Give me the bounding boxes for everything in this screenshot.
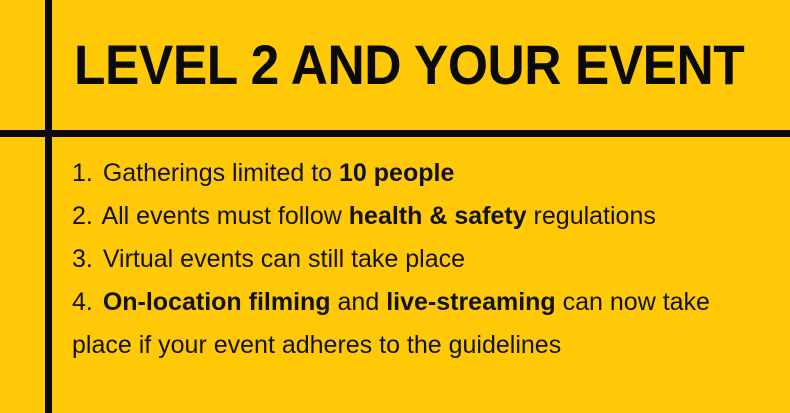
list-item-marker: 3. xyxy=(72,245,93,273)
list-item-emphasis: health & safety xyxy=(349,202,527,230)
list-item: 3. Virtual events can still take place xyxy=(72,238,772,281)
list-item-text: Virtual events can still take place xyxy=(103,245,465,273)
list-item: 1. Gatherings limited to 10 people xyxy=(72,152,772,195)
poster-header: LEVEL 2 AND YOUR EVENT xyxy=(52,0,790,130)
guideline-list: 1. Gatherings limited to 10 people2. All… xyxy=(72,152,772,367)
horizontal-divider-rule xyxy=(0,130,790,137)
list-item-text: All events must follow xyxy=(101,202,348,230)
list-item: 4. On-location filming and live-streamin… xyxy=(72,281,772,367)
page-title: LEVEL 2 AND YOUR EVENT xyxy=(74,36,744,94)
list-item-emphasis: live-streaming xyxy=(386,288,556,316)
list-item-text: and xyxy=(331,288,387,316)
poster-body: 1. Gatherings limited to 10 people2. All… xyxy=(52,137,790,413)
poster-canvas: LEVEL 2 AND YOUR EVENT 1. Gatherings lim… xyxy=(0,0,790,413)
list-item-text: regulations xyxy=(527,202,656,230)
list-item-text: Gatherings limited to xyxy=(103,159,339,187)
list-item-emphasis: 10 people xyxy=(339,159,454,187)
list-item: 2. All events must follow health & safet… xyxy=(72,195,772,238)
list-item-emphasis: On-location filming xyxy=(103,288,331,316)
vertical-divider-rule xyxy=(45,0,52,413)
list-item-marker: 1. xyxy=(72,159,93,187)
list-item-marker: 4. xyxy=(72,288,93,316)
list-item-marker: 2. xyxy=(72,202,93,230)
